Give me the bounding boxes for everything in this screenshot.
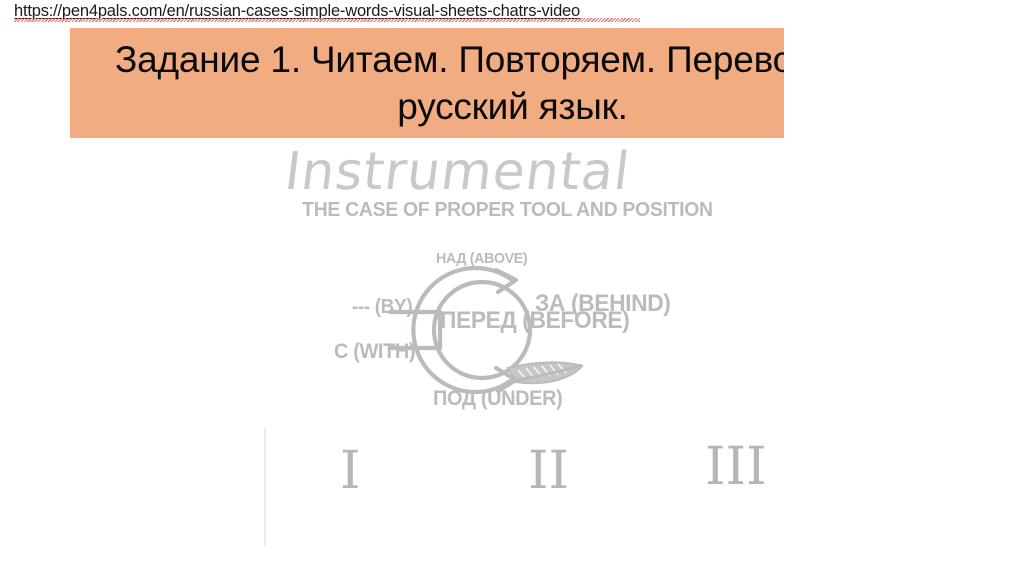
- roman-numeral-3: III: [705, 437, 767, 497]
- case-name-handwritten: Instrumental: [281, 143, 709, 205]
- roman-numeral-1: I: [340, 441, 361, 501]
- roman-numeral-2: II: [528, 441, 569, 501]
- preposition-diagram: НАД (ABOVE) --- (BY) С (WITH) ЗА (BEHIND…: [330, 250, 660, 410]
- prep-label-by: --- (BY): [352, 296, 412, 319]
- prep-label-before: ПЕРЕД (BEFORE): [440, 308, 629, 334]
- feather-quill-shape: [506, 362, 582, 383]
- prep-label-with: С (WITH): [334, 340, 415, 364]
- left-vertical-rule: [264, 428, 266, 546]
- prep-label-above: НАД (ABOVE): [436, 250, 527, 267]
- arrowhead-top: [496, 270, 516, 292]
- case-subtitle-text: THE CASE OF PROPER TOOL AND POSITION: [302, 198, 700, 222]
- spellcheck-squiggle-underline: [14, 18, 640, 22]
- worksheet-right-crop-mask: [784, 0, 1024, 571]
- prep-label-under: ПОД (UNDER): [433, 387, 562, 411]
